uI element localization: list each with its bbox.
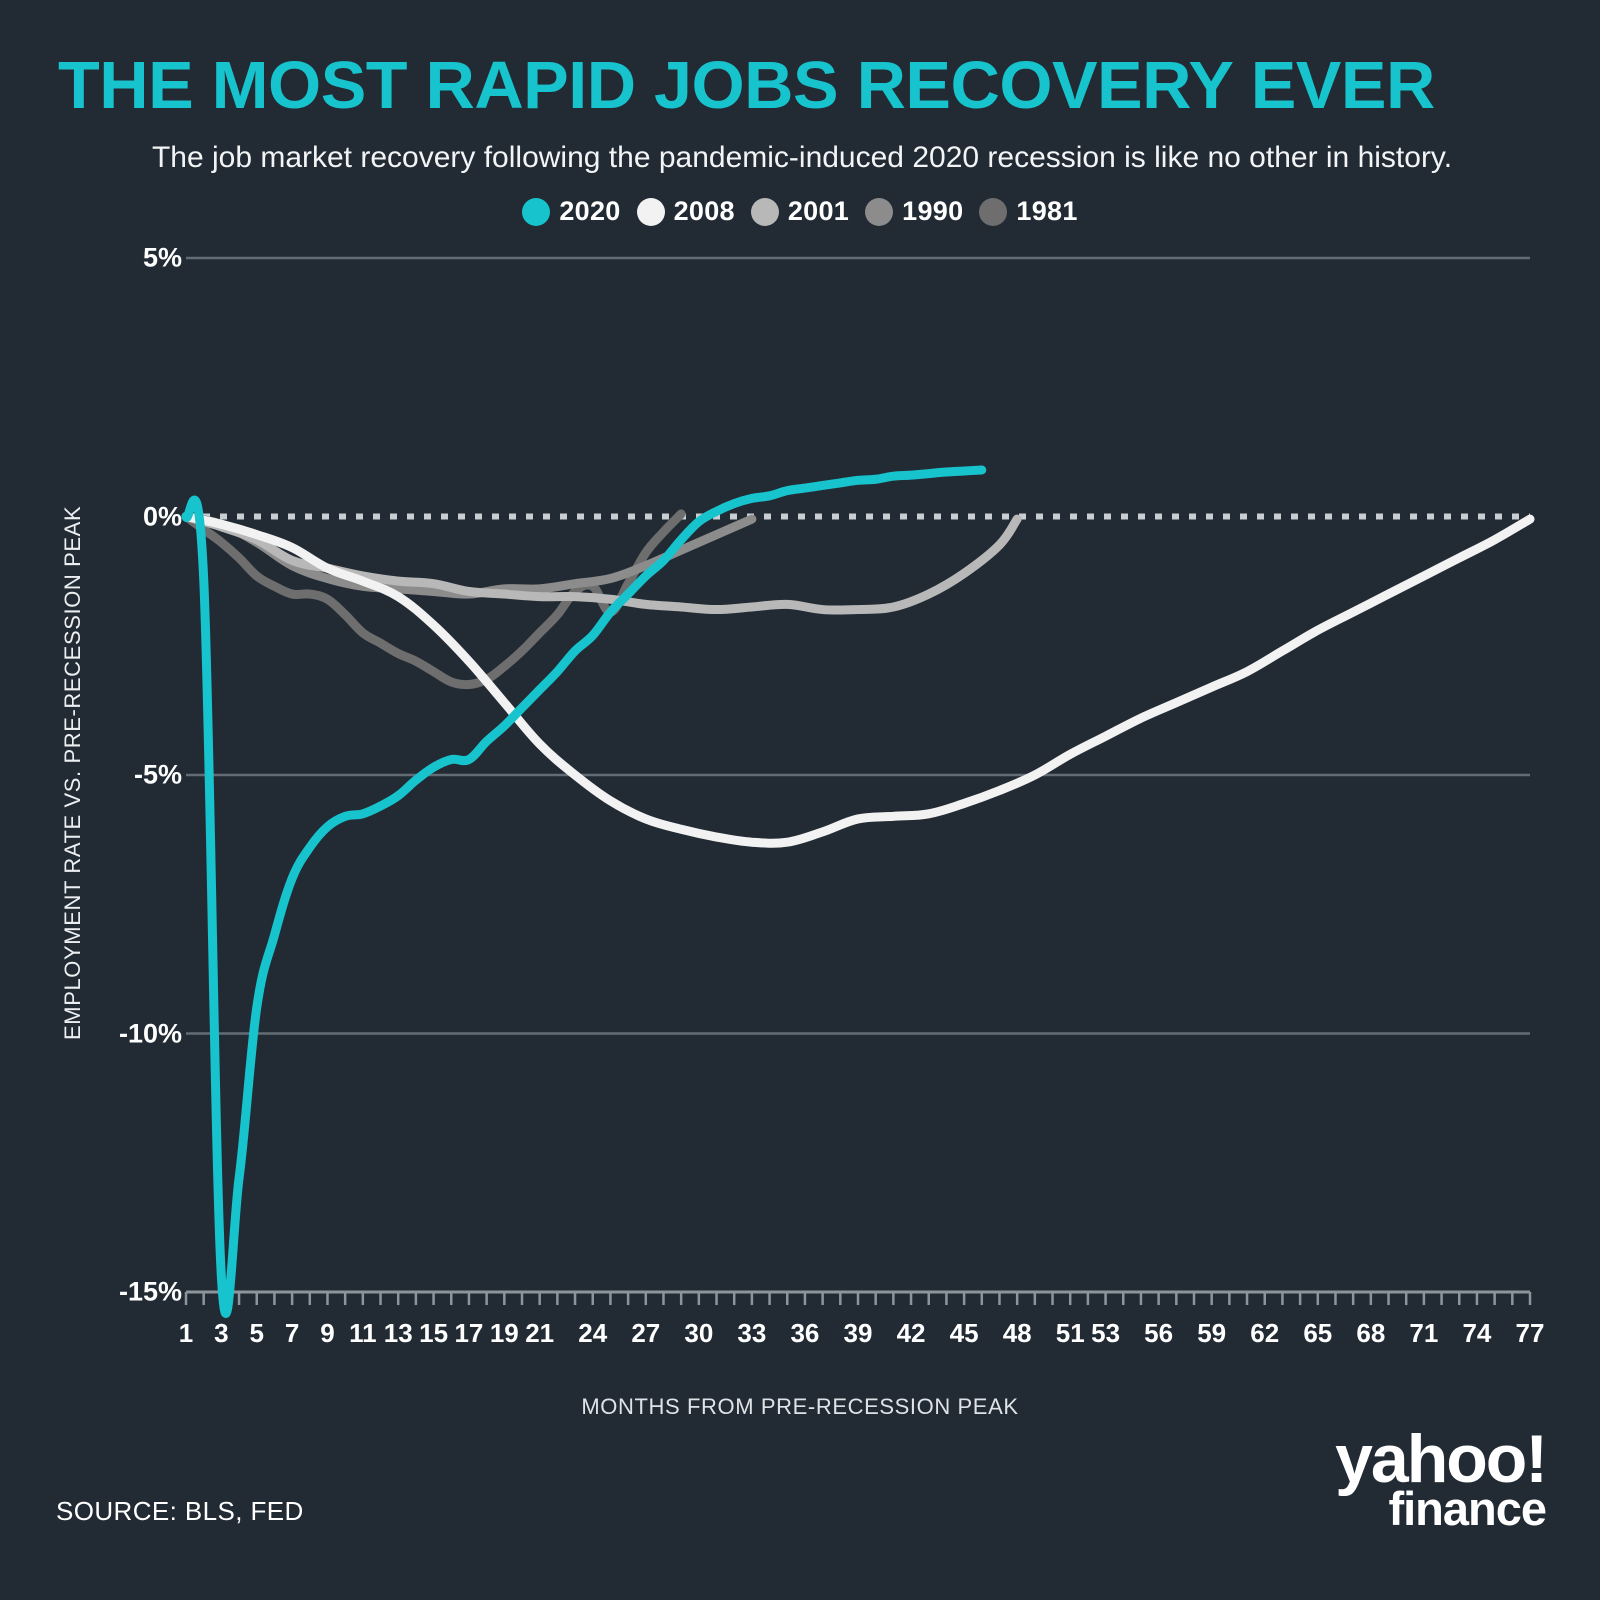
x-axis-tick-label: 15 [419, 1318, 448, 1349]
x-axis-tick-label: 3 [214, 1318, 228, 1349]
series-line-2008 [186, 517, 1530, 844]
x-axis-tick-label: 39 [844, 1318, 873, 1349]
x-axis-tick-label: 36 [790, 1318, 819, 1349]
x-axis-tick-label: 68 [1356, 1318, 1385, 1349]
source-note: SOURCE: BLS, FED [56, 1496, 304, 1527]
x-axis-tick-label: 74 [1462, 1318, 1491, 1349]
x-axis-tick-label: 30 [684, 1318, 713, 1349]
y-axis-tick-label: 0% [62, 501, 182, 532]
x-axis-tick-label: 77 [1516, 1318, 1545, 1349]
x-axis-tick-label: 48 [1003, 1318, 1032, 1349]
x-axis-title: MONTHS FROM PRE-RECESSION PEAK [0, 1394, 1600, 1420]
x-axis-tick-label: 51 [1056, 1318, 1085, 1349]
y-axis-tick-label: -15% [62, 1277, 182, 1308]
x-axis-tick-label: 71 [1409, 1318, 1438, 1349]
x-axis-tick-label: 27 [631, 1318, 660, 1349]
x-axis-tick-label: 9 [320, 1318, 334, 1349]
x-axis-tick-label: 7 [285, 1318, 299, 1349]
y-axis-tick-label: -5% [62, 760, 182, 791]
x-axis-tick-label: 62 [1250, 1318, 1279, 1349]
x-axis-tick-label: 33 [737, 1318, 766, 1349]
x-axis-tick-label: 19 [490, 1318, 519, 1349]
logo-yahoo-text: yahoo! [1335, 1432, 1546, 1488]
x-axis-tick-label: 56 [1144, 1318, 1173, 1349]
y-axis-tick-label: -10% [62, 1018, 182, 1049]
y-axis-tick-label: 5% [62, 243, 182, 274]
plot-canvas [0, 0, 1600, 1600]
x-axis-tick-label: 65 [1303, 1318, 1332, 1349]
x-axis-tick-label: 1 [179, 1318, 193, 1349]
x-axis-tick-label: 24 [578, 1318, 607, 1349]
yahoo-finance-logo: yahoo! finance [1335, 1432, 1546, 1528]
infographic-root: THE MOST RAPID JOBS RECOVERY EVER The jo… [0, 0, 1600, 1600]
x-axis-tick-label: 17 [454, 1318, 483, 1349]
x-axis-tick-label: 21 [525, 1318, 554, 1349]
x-axis-tick-label: 45 [950, 1318, 979, 1349]
x-axis-tick-label: 59 [1197, 1318, 1226, 1349]
x-axis-tick-label: 11 [349, 1318, 377, 1349]
x-axis-tick-label: 5 [250, 1318, 264, 1349]
x-axis-tick-label: 13 [384, 1318, 413, 1349]
x-axis-tick-label: 42 [897, 1318, 926, 1349]
x-axis-tick-label: 53 [1091, 1318, 1120, 1349]
line-chart [0, 0, 1600, 1600]
